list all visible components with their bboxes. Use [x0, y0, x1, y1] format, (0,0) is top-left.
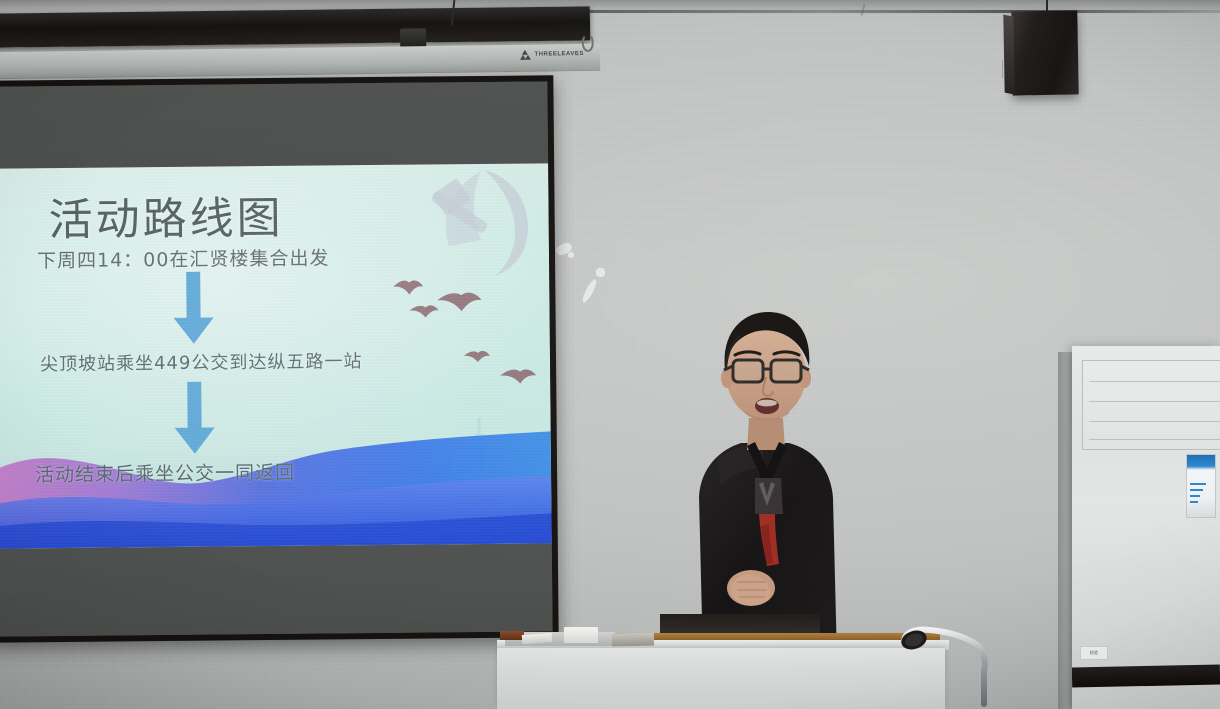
presenter	[655, 300, 875, 660]
letterbox-top	[0, 81, 548, 168]
speaker-side-panel	[1003, 15, 1014, 95]
projection-screen-surface: 活动路线图 下周四14：00在汇贤楼集合出发 尖顶坡站乘坐449公交到达纵五路一…	[0, 81, 553, 636]
podium[interactable]	[497, 648, 945, 709]
three-diamond-icon	[519, 50, 530, 60]
air-conditioner-dark-band	[1072, 664, 1220, 687]
brand-logo: THREELEAVES	[519, 49, 584, 60]
air-conditioner-unit[interactable]: 检验	[1072, 346, 1220, 709]
wall-paint-mark	[596, 268, 605, 277]
wall-speaker	[1011, 10, 1078, 95]
podium-item-redbar[interactable]	[500, 631, 524, 640]
wall-paint-mark	[568, 252, 574, 258]
projected-slide: 活动路线图 下周四14：00在汇贤楼集合出发 尖顶坡站乘坐449公交到达纵五路一…	[0, 163, 552, 548]
projection-screen-frame[interactable]: 活动路线图 下周四14：00在汇贤楼集合出发 尖顶坡站乘坐449公交到达纵五路一…	[0, 75, 559, 642]
letterbox-bottom	[0, 543, 553, 636]
wall-corner-edge	[1058, 352, 1072, 709]
wall-scuff	[1002, 60, 1003, 78]
energy-efficiency-label	[1186, 454, 1216, 518]
air-conditioner-grille	[1082, 360, 1220, 450]
classroom-photo: THREELEAVES	[0, 0, 1220, 709]
slide-projector-bloom	[0, 163, 552, 548]
ceiling-wall-line	[560, 10, 1220, 13]
podium-item-eraser[interactable]	[564, 627, 598, 643]
rail-hook-icon	[582, 34, 594, 52]
inspection-sticker: 检验	[1080, 646, 1108, 660]
brand-name: THREELEAVES	[534, 51, 583, 58]
podium-item-remote[interactable]	[612, 633, 654, 647]
gooseneck-microphone-icon[interactable]	[900, 626, 990, 708]
